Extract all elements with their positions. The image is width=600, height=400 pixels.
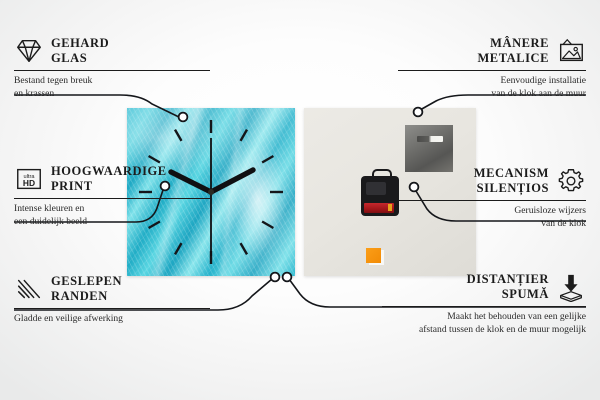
feature-title-line1: HOOGWAARDIGE (51, 164, 167, 179)
feature-divider (398, 200, 586, 202)
feature-description-line2: een duidelijk beeld (14, 216, 210, 229)
feature-header: DISTANȚIER SPUMĂ (382, 272, 586, 303)
feature-foam-spacer[interactable]: DISTANȚIER SPUMĂ Maakt het behouden van … (382, 272, 586, 337)
feature-header: MECANISM SILENȚIOS (398, 166, 586, 197)
feature-title-line2: SPUMĂ (467, 287, 549, 302)
feature-header: ultra HD HOOGWAARDIGE PRINT (14, 164, 210, 195)
feature-description-line1: Bestand tegen breuk (14, 75, 210, 88)
feature-title-line2: SILENȚIOS (474, 181, 549, 196)
feature-description: Geruisloze wijzers van de klok (398, 205, 586, 231)
feature-ground-edges[interactable]: GESLEPEN RANDEN Gladde en veilige afwerk… (14, 274, 210, 326)
feature-description-line1: Eenvoudige installatie (398, 75, 586, 88)
infographic-canvas: GEHARD GLAS Bestand tegen breuk en krass… (0, 0, 600, 400)
feature-description-line1: Maakt het behouden van een gelijke (382, 311, 586, 324)
metal-hanger-plate (405, 125, 453, 172)
feature-metal-handles[interactable]: MÂNERE METALICE Eenvoudige installatie v… (398, 36, 586, 101)
feature-header: GEHARD GLAS (14, 36, 210, 67)
ultra-hd-icon: ultra HD (14, 164, 44, 194)
battery (364, 203, 394, 213)
feature-divider (398, 70, 586, 72)
feature-description-line1: Intense kleuren en (14, 203, 210, 216)
feature-tempered-glass[interactable]: GEHARD GLAS Bestand tegen breuk en krass… (14, 36, 210, 101)
feature-title-line1: GEHARD (51, 36, 109, 51)
feature-description-line2: van de klok aan de muur (398, 88, 586, 101)
arrow-down-layers-icon (556, 272, 586, 302)
feature-description: Gladde en veilige afwerking (14, 313, 210, 326)
feature-description: Bestand tegen breuk en krassen (14, 75, 210, 101)
feature-title-line2: GLAS (51, 51, 109, 66)
gear-icon (556, 166, 586, 196)
feature-high-quality-print[interactable]: ultra HD HOOGWAARDIGE PRINT Intense kleu… (14, 164, 210, 229)
feature-divider (382, 306, 586, 308)
feature-divider (14, 70, 210, 72)
mechanism-dial (366, 182, 386, 195)
feature-description: Intense kleuren en een duidelijk beeld (14, 203, 210, 229)
feature-description: Eenvoudige installatie van de klok aan d… (398, 75, 586, 101)
feature-title-line2: METALICE (477, 51, 549, 66)
foam-spacer (366, 248, 381, 263)
mechanism-hanging-loop (372, 169, 392, 181)
feature-description-line2: afstand tussen de klok en de muur mogeli… (382, 324, 586, 337)
svg-text:HD: HD (23, 178, 35, 188)
feature-title-line1: MECANISM (474, 166, 549, 181)
feature-header: MÂNERE METALICE (398, 36, 586, 67)
feature-description: Maakt het behouden van een gelijke afsta… (382, 311, 586, 337)
feature-title-line1: MÂNERE (477, 36, 549, 51)
hanger-slot (417, 136, 443, 142)
diamond-icon (14, 36, 44, 66)
feature-description-line2: en krassen (14, 88, 210, 101)
feature-description-line1: Gladde en veilige afwerking (14, 313, 210, 326)
feature-description-line2: van de klok (398, 218, 586, 231)
feature-title-line2: RANDEN (51, 289, 122, 304)
quartz-mechanism-box (361, 176, 399, 216)
picture-frame-icon (556, 36, 586, 66)
feature-divider (14, 308, 210, 310)
feature-description-line1: Geruisloze wijzers (398, 205, 586, 218)
feature-divider (14, 198, 210, 200)
feature-title-line1: DISTANȚIER (467, 272, 549, 287)
feature-header: GESLEPEN RANDEN (14, 274, 210, 305)
ground-edges-icon (14, 274, 44, 304)
feature-title-line1: GESLEPEN (51, 274, 122, 289)
feature-title-line2: PRINT (51, 179, 167, 194)
feature-silent-mechanism[interactable]: MECANISM SILENȚIOS Geruisloze wijzers va… (398, 166, 586, 231)
